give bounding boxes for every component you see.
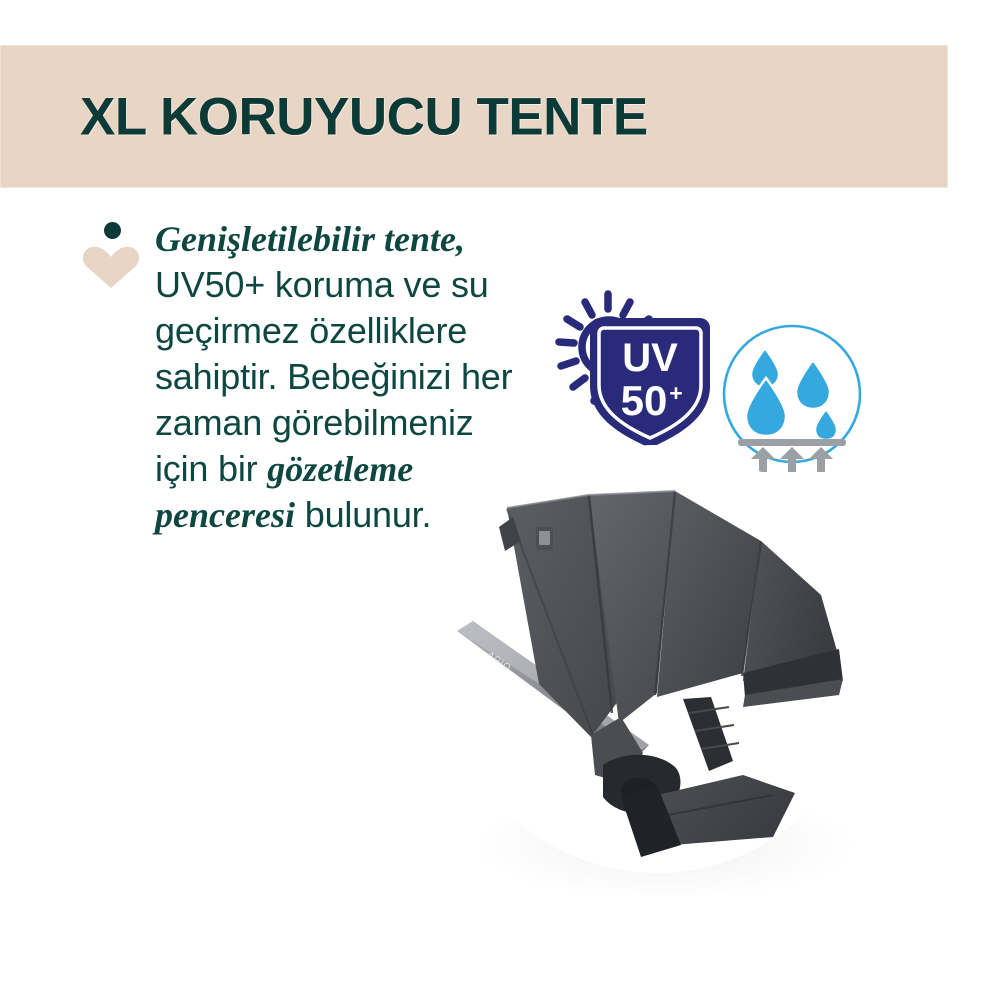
- uv-rating-label: 50: [621, 377, 668, 424]
- stroller-canopy-photo: AGIO: [443, 445, 871, 873]
- feature-description-text: Genişletilebilir tente, UV50+ koruma ve …: [155, 216, 525, 538]
- header-band: XL KORUYUCU TENTE: [0, 45, 948, 188]
- water-repellent-badge: [718, 322, 866, 472]
- heart-shape-icon: [82, 246, 140, 288]
- page-root: XL KORUYUCU TENTE Genişletilebilir tente…: [0, 0, 1000, 1000]
- bullet-dot-icon: [104, 222, 121, 239]
- copy-plain-2: bulunur.: [295, 494, 431, 535]
- fabric-surface-bar: [738, 439, 846, 446]
- heart-bullet-icon: [82, 222, 144, 288]
- feature-description: Genişletilebilir tente, UV50+ koruma ve …: [155, 216, 525, 538]
- copy-emphasis-1: Genişletilebilir tente,: [155, 219, 465, 259]
- upward-arrows-icon: [751, 447, 833, 472]
- uv50-protection-badge: UV 50 +: [552, 288, 732, 463]
- uv-plus-label: +: [669, 380, 682, 406]
- page-title: XL KORUYUCU TENTE: [80, 86, 648, 147]
- uv-label: UV: [622, 336, 678, 380]
